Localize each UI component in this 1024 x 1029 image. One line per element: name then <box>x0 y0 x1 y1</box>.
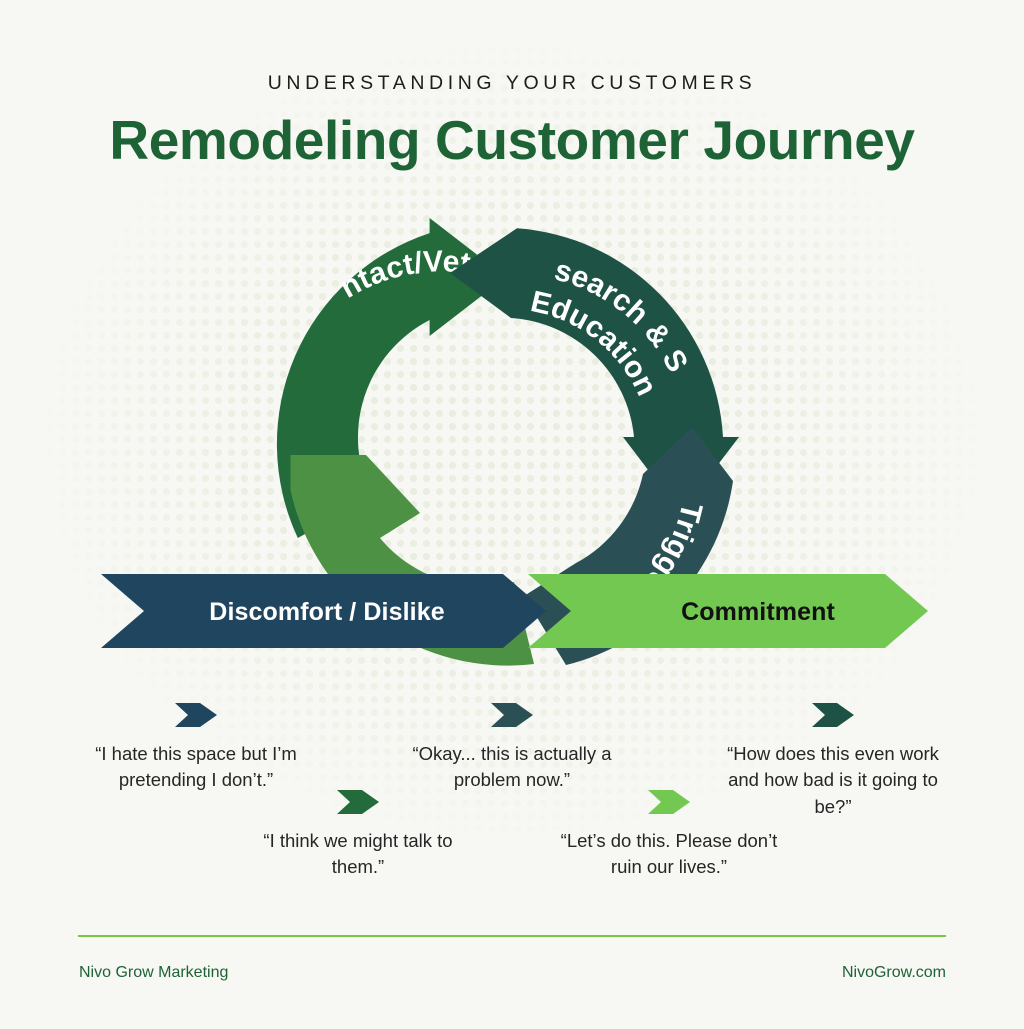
quote-item-1: “I hate this space but I’m pretending I … <box>78 703 314 794</box>
chevron-right-icon <box>175 703 217 727</box>
footer-website: NivoGrow.com <box>842 964 946 982</box>
quote-item-5: “How does this even work and how bad is … <box>716 703 950 820</box>
chevron-right-icon <box>812 703 854 727</box>
chevron-right-icon <box>491 703 533 727</box>
quote-text-5: “How does this even work and how bad is … <box>716 741 950 820</box>
footer-divider <box>78 935 946 937</box>
quote-group: “I hate this space but I’m pretending I … <box>0 0 1024 1024</box>
footer-brand: Nivo Grow Marketing <box>79 964 228 982</box>
chevron-right-icon <box>648 790 690 814</box>
quote-text-3: “Okay... this is actually a problem now.… <box>399 741 625 794</box>
quote-text-4: “Let’s do this. Please don’t ruin our li… <box>551 828 787 881</box>
chevron-right-icon <box>337 790 379 814</box>
quote-item-3: “Okay... this is actually a problem now.… <box>399 703 625 794</box>
quote-text-1: “I hate this space but I’m pretending I … <box>78 741 314 794</box>
quote-item-2: “I think we might talk to them.” <box>240 790 476 881</box>
quote-text-2: “I think we might talk to them.” <box>240 828 476 881</box>
